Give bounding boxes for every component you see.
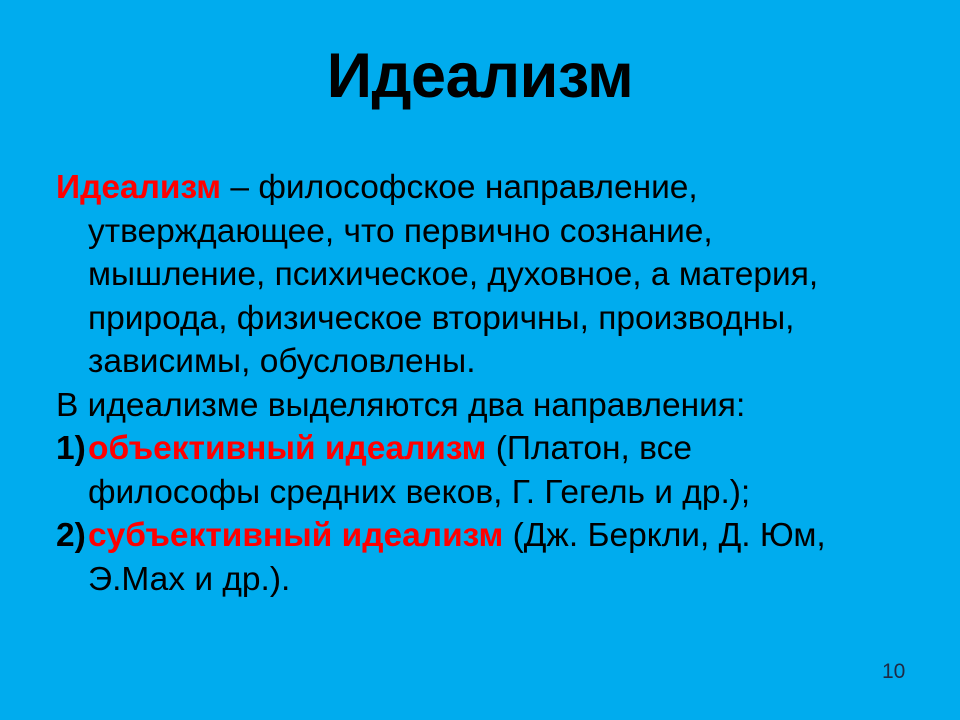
lead-in-paragraph: В идеализме выделяются два направления: — [56, 384, 868, 428]
directions-list: 1)объективный идеализм (Платон, все фило… — [56, 427, 868, 601]
list-item-term: субъективный идеализм — [88, 517, 503, 554]
list-item: 1)объективный идеализм (Платон, все фило… — [56, 427, 868, 514]
definition-term: Идеализм — [56, 169, 221, 206]
definition-paragraph: Идеализм – философское направление, утве… — [56, 166, 868, 384]
list-item-marker: 2) — [56, 514, 86, 558]
list-item-term: объективный идеализм — [88, 430, 486, 467]
list-item-marker: 1) — [56, 427, 86, 471]
list-item: 2)субъективный идеализм (Дж. Беркли, Д. … — [56, 514, 868, 601]
page-number: 10 — [882, 661, 905, 682]
slide-body: Идеализм – философское направление, утве… — [56, 166, 868, 601]
page-title: Идеализм — [0, 42, 960, 111]
slide: Идеализм Идеализм – философское направле… — [0, 0, 960, 720]
